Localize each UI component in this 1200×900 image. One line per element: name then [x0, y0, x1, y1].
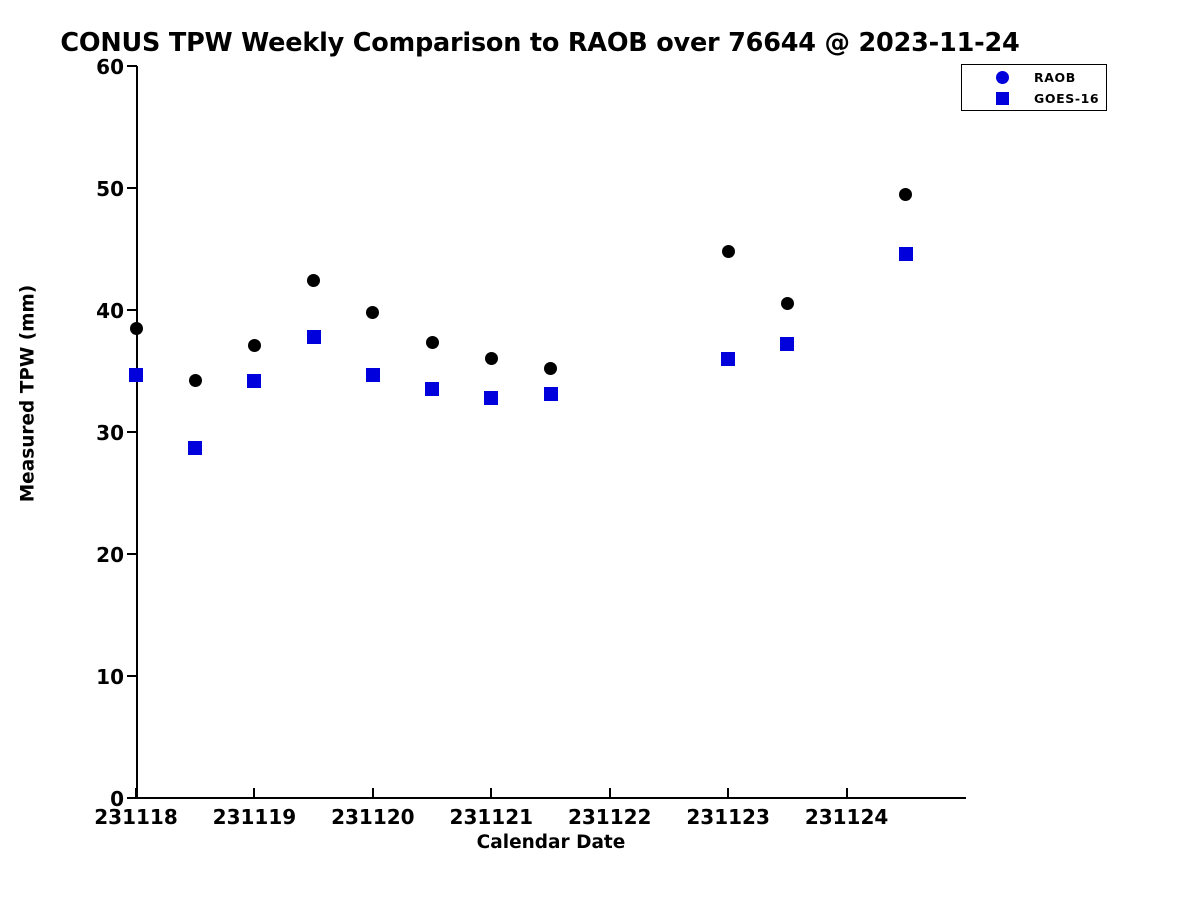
data-point-raob — [248, 339, 261, 352]
data-point-goes-16 — [366, 368, 380, 382]
y-axis-label: Measured TPW (mm) — [18, 174, 39, 614]
chart-title: CONUS TPW Weekly Comparison to RAOB over… — [0, 28, 1080, 58]
x-axis-label: Calendar Date — [136, 832, 966, 853]
chart-figure: CONUS TPW Weekly Comparison to RAOB over… — [0, 0, 1200, 900]
legend-marker-square-icon — [996, 92, 1009, 105]
data-point-goes-16 — [307, 330, 321, 344]
data-point-goes-16 — [188, 441, 202, 455]
data-point-raob — [366, 306, 379, 319]
data-point-goes-16 — [544, 387, 558, 401]
data-point-raob — [189, 374, 202, 387]
y-tick-label: 20 — [44, 543, 124, 567]
legend-entry-raob: RAOB — [962, 67, 1106, 88]
y-tick-label: 50 — [44, 177, 124, 201]
data-point-goes-16 — [899, 247, 913, 261]
data-point-raob — [781, 297, 794, 310]
data-point-raob — [130, 322, 143, 335]
legend-entry-goes-16: GOES-16 — [962, 88, 1106, 109]
chart-legend: RAOBGOES-16 — [961, 64, 1107, 111]
data-point-raob — [722, 245, 735, 258]
data-point-raob — [307, 274, 320, 287]
data-point-raob — [426, 336, 439, 349]
y-tick-label: 40 — [44, 299, 124, 323]
data-point-goes-16 — [780, 337, 794, 351]
data-point-goes-16 — [129, 368, 143, 382]
data-point-raob — [899, 188, 912, 201]
data-point-goes-16 — [484, 391, 498, 405]
x-tick-label: 231124 — [767, 805, 927, 829]
legend-label: GOES-16 — [1034, 91, 1099, 106]
y-tick-label: 10 — [44, 665, 124, 689]
data-point-goes-16 — [247, 374, 261, 388]
data-point-goes-16 — [721, 352, 735, 366]
data-point-raob — [544, 362, 557, 375]
data-point-raob — [485, 352, 498, 365]
y-tick-label: 30 — [44, 421, 124, 445]
legend-marker-circle-icon — [996, 71, 1009, 84]
legend-label: RAOB — [1034, 70, 1076, 85]
data-point-goes-16 — [425, 382, 439, 396]
plot-area — [136, 66, 965, 798]
y-tick-label: 60 — [44, 55, 124, 79]
